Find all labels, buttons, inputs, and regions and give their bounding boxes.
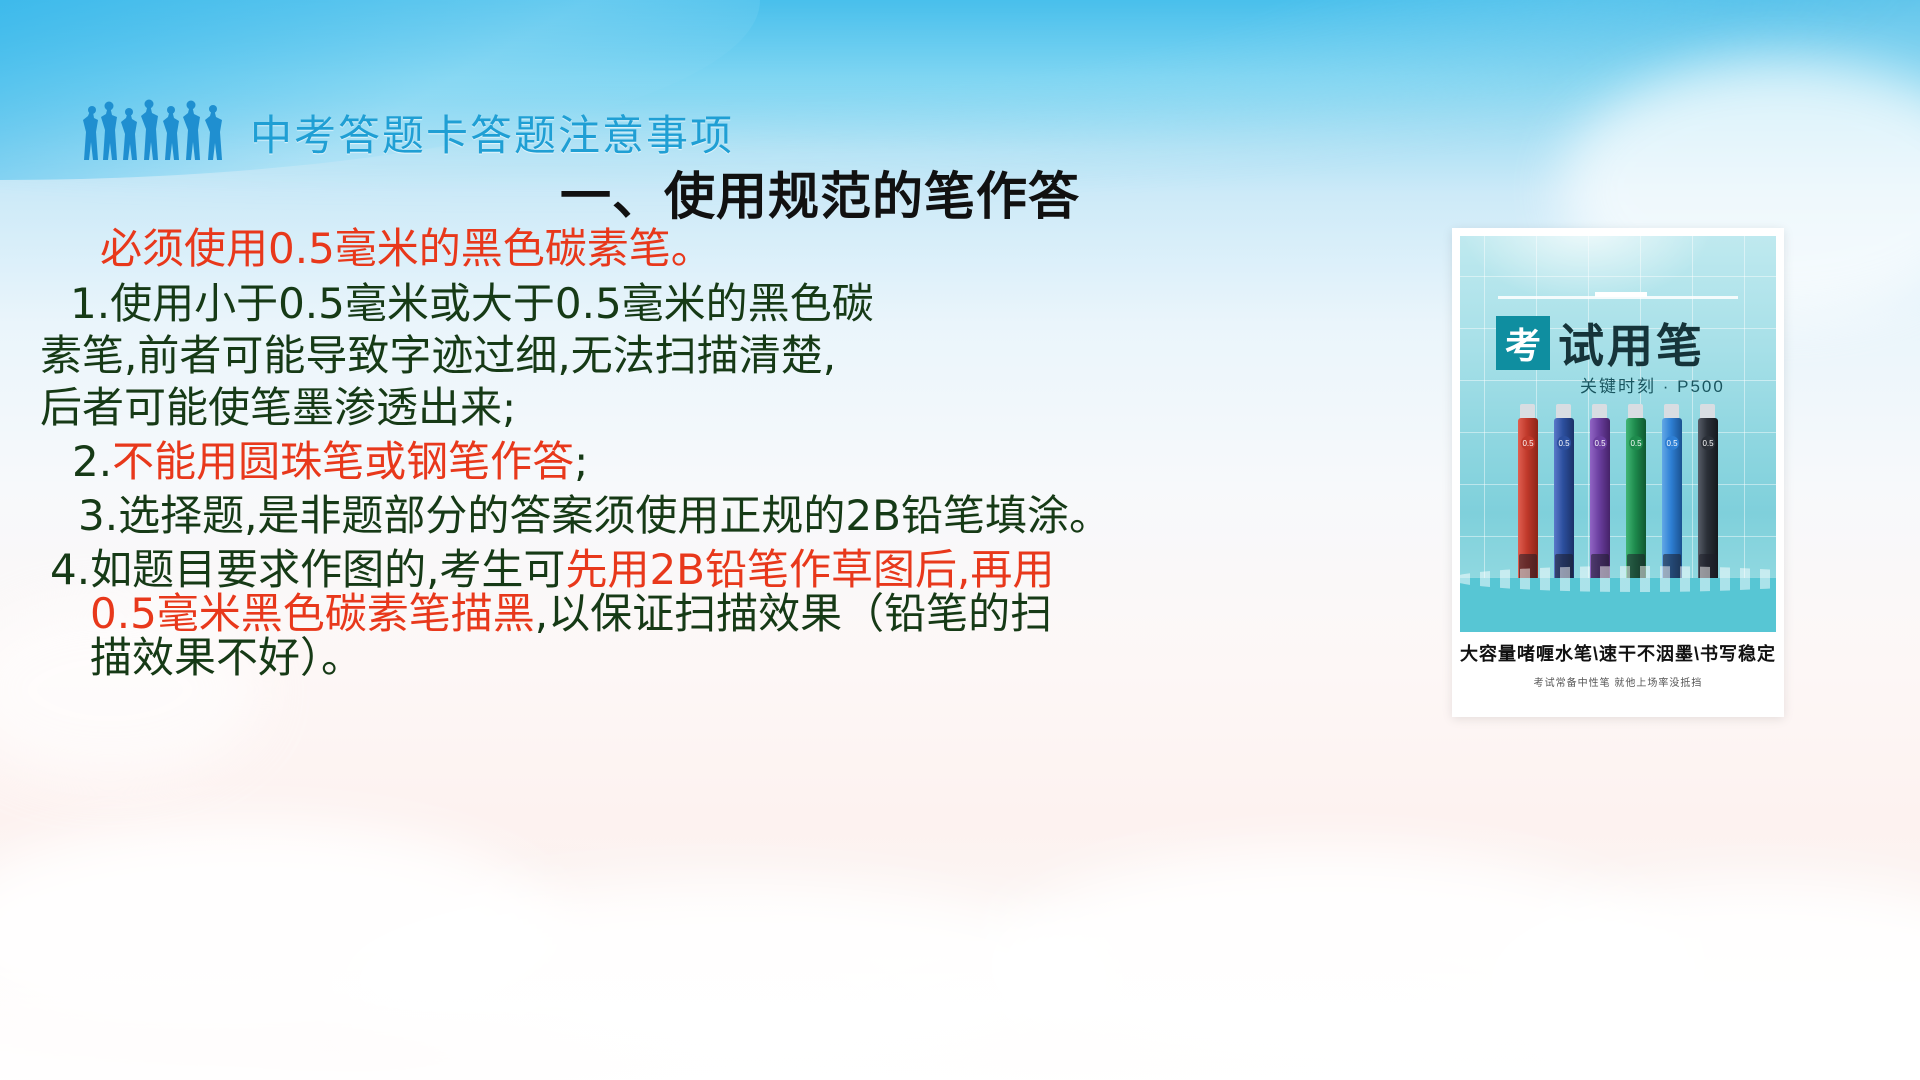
pen-ad-photo: 考 试用笔 关键时刻 · P500 0.5 0.5 [1460,236,1776,632]
ad-divider-accent [1595,292,1647,297]
pen-advertisement-image: 考 试用笔 关键时刻 · P500 0.5 0.5 [1452,228,1784,717]
grid-line [1460,276,1776,277]
ad-badge-kao: 考 [1496,316,1550,370]
item2-end: ; [574,437,588,486]
item2-number: 2. [72,437,112,486]
ad-title-rest: 试用笔 [1558,310,1705,376]
pen-size-badge: 0.5 [1665,436,1679,450]
list-item-4-line-2: 0.5毫米黑色碳素笔描黑,以保证扫描效果（铅笔的扫 [40,593,1240,635]
item1-text-a: 1.使用小于0.5毫米或大于0.5毫米的黑色碳 [70,279,874,328]
list-item-2: 2.不能用圆珠笔或钢笔作答; [40,441,1240,483]
cloud-band-bottom [0,910,1920,1080]
list-item-4-line-3: 描效果不好）。 [40,637,1240,679]
ad-caption-main: 大容量啫喱水笔\速干不洇墨\书写稳定 [1452,640,1784,666]
item4-text-c: 描效果不好）。 [90,633,363,682]
list-item-3: 3.选择题,是非题部分的答案须使用正规的2B铅笔填涂。 [40,495,1240,537]
list-item-1-line-1: 1.使用小于0.5毫米或大于0.5毫米的黑色碳 [40,283,1240,325]
list-item-1-line-2: 素笔,前者可能导致字迹过细,无法扫描清楚, [40,335,1240,377]
section-heading: 一、使用规范的笔作答 [560,155,1080,229]
item2-red-text: 不能用圆珠笔或钢笔作答 [112,437,574,486]
pen-size-badge: 0.5 [1701,436,1715,450]
pen-size-badge: 0.5 [1593,436,1607,450]
page-title: 中考答题卡答题注意事项 [250,102,734,163]
people-celebrating-icon [82,98,234,160]
item4-red-a3: 再用 [970,545,1054,594]
item4-text-a1: 4.如题目要求作图的,考生可 [50,545,565,594]
slide-canvas: 中考答题卡答题注意事项 一、使用规范的笔作答 必须使用0.5毫米的黑色碳素笔。 … [0,0,1920,1080]
pen-size-badge: 0.5 [1629,436,1643,450]
ad-subtitle: 关键时刻 · P500 [1580,372,1725,397]
ad-wave-band [1460,578,1776,632]
pen-size-badge: 0.5 [1521,436,1535,450]
slide-header: 中考答题卡答题注意事项 [0,46,1920,116]
item4-red-b1: 0.5毫米黑色碳素笔描黑 [90,589,535,638]
red-notice-text: 必须使用0.5毫米的黑色碳素笔。 [100,224,713,273]
item1-text-b: 素笔,前者可能导致字迹过细,无法扫描清楚, [40,331,836,380]
item4-red-a2: 先用2B铅笔作草图后, [565,545,970,594]
ad-caption-block: 大容量啫喱水笔\速干不洇墨\书写稳定 考试常备中性笔 就他上场率没抵挡 [1452,640,1784,689]
item1-text-c: 后者可能使笔墨渗透出来; [40,383,516,432]
list-item-4-line-1: 4.如题目要求作图的,考生可先用2B铅笔作草图后,再用 [40,549,1240,591]
body-content: 必须使用0.5毫米的黑色碳素笔。 1.使用小于0.5毫米或大于0.5毫米的黑色碳… [40,228,1240,679]
ad-caption-sub: 考试常备中性笔 就他上场率没抵挡 [1452,674,1784,689]
list-item-1-line-3: 后者可能使笔墨渗透出来; [40,387,1240,429]
item4-text-b2: ,以保证扫描效果（铅笔的扫 [535,589,1052,638]
red-notice-line: 必须使用0.5毫米的黑色碳素笔。 [40,228,1240,270]
ad-title-row: 考 试用笔 [1496,310,1705,376]
item3-text: 3.选择题,是非题部分的答案须使用正规的2B铅笔填涂。 [78,491,1111,540]
pen-size-badge: 0.5 [1557,436,1571,450]
